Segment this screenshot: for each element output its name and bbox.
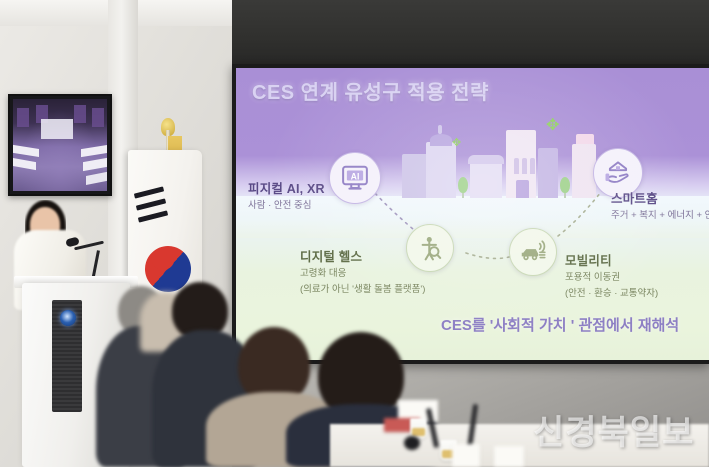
- car-signal-icon: [509, 228, 557, 276]
- car-signal-glyph: [518, 237, 548, 267]
- label-digital-health: 디지털 헬스 고령화 대응 (의료가 아닌 '생활 돌봄 플랫폼'): [300, 246, 425, 297]
- label-mobility-subtitle: 포용적 이동권: [565, 271, 658, 285]
- label-physical-ai-title: 피지컬 AI, XR: [248, 178, 325, 197]
- house-on-hand-glyph: [603, 158, 633, 188]
- government-emblem-icon: [60, 310, 76, 326]
- microphone-head: [404, 436, 420, 450]
- slide-conclusion-text: CES를 '사회적 가치 ' 관점에서 재해석: [441, 314, 679, 335]
- room-wall-upper-dark: [232, 0, 709, 70]
- label-digital-health-subtitle: 고령화 대응: [300, 267, 425, 281]
- wall-monitor-screen: [13, 99, 107, 191]
- label-mobility-title: 모빌리티: [565, 250, 658, 269]
- label-smart-home-title: 스마트홈: [611, 188, 709, 207]
- ai-monitor-glyph: AI: [340, 163, 370, 193]
- presentation-slide: CES 연계 유성구 적용 전략 ✥ ✥: [236, 68, 709, 360]
- label-physical-ai: 피지컬 AI, XR 사람 · 안전 중심: [248, 178, 325, 213]
- label-digital-health-title: 디지털 헬스: [300, 246, 425, 265]
- wall-monitor: [8, 94, 112, 196]
- news-watermark: 신경북일보: [533, 405, 694, 454]
- label-smart-home: 스마트홈 주거 + 복지 + 에너지 + 안전: [611, 188, 709, 223]
- photograph: CES 연계 유성구 적용 전략 ✥ ✥: [0, 0, 709, 467]
- label-mobility-subtitle2: (안전 · 환승 · 교통약자): [565, 287, 658, 301]
- nameplate: [452, 444, 480, 467]
- label-digital-health-subtitle2: (의료가 아닌 '생활 돌봄 플랫폼'): [300, 283, 425, 297]
- label-mobility: 모빌리티 포용적 이동권 (안전 · 환승 · 교통약자): [565, 250, 658, 301]
- nameplate: [494, 446, 524, 467]
- label-smart-home-subtitle: 주거 + 복지 + 에너지 + 안전: [611, 209, 709, 223]
- svg-text:AI: AI: [351, 171, 360, 181]
- label-physical-ai-subtitle: 사람 · 안전 중심: [248, 199, 325, 213]
- ai-monitor-icon: AI: [329, 152, 381, 204]
- lectern-panel: [52, 300, 82, 412]
